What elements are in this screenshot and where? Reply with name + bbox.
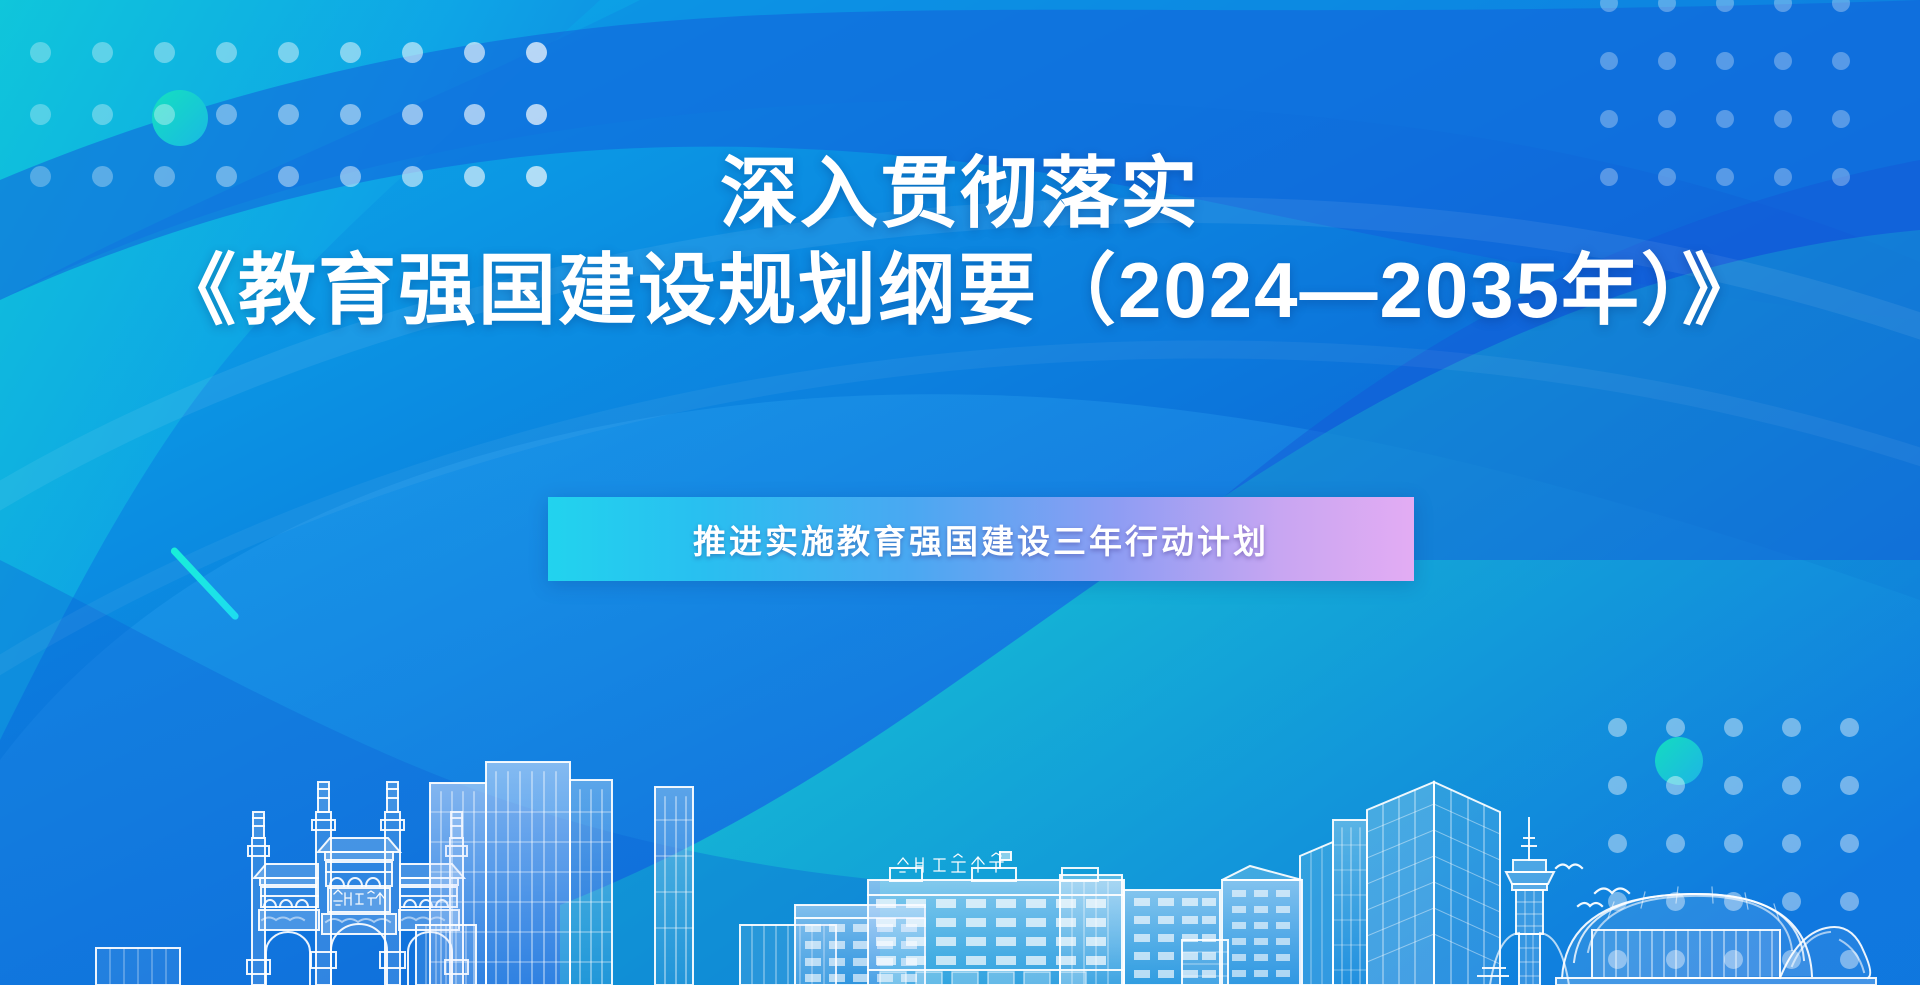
cityscape-illustration: [0, 0, 1920, 985]
building-name-glyphs: [897, 853, 1003, 872]
high-rise-cluster: [1300, 782, 1500, 985]
poster-canvas: 深入贯彻落实 《教育强国建设规划纲要（2024—2035年）》 推进实施教育强国…: [0, 0, 1920, 985]
stadium: [1556, 887, 1876, 985]
office-tower-left: [416, 762, 836, 985]
birds-icon: [1556, 865, 1629, 907]
low-buildings-far-left: [96, 948, 180, 985]
subtitle-banner: 推进实施教育强国建设三年行动计划: [548, 497, 1414, 581]
subtitle-text: 推进实施教育强国建设三年行动计划: [693, 515, 1269, 563]
